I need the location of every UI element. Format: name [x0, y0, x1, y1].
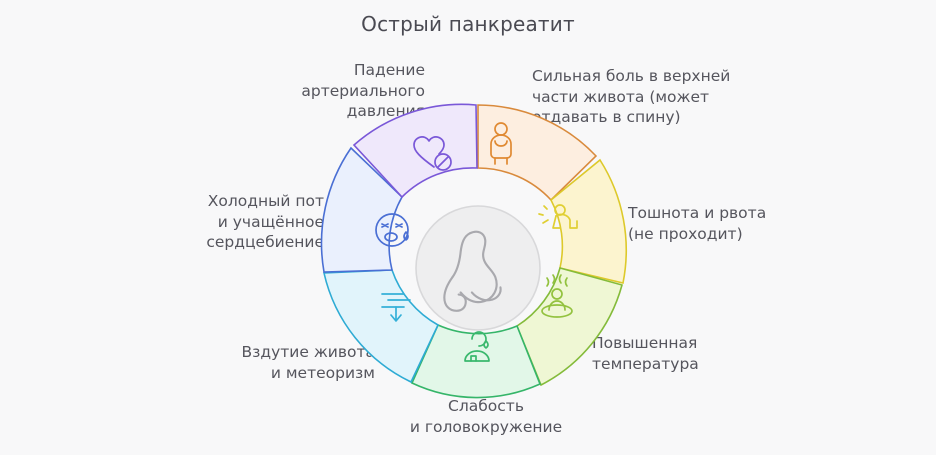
wheel-svg	[288, 78, 668, 418]
symptom-wheel	[288, 78, 668, 418]
center-hub[interactable]	[416, 206, 540, 330]
page-title: Острый панкреатит	[0, 12, 936, 36]
center-hub-circle	[416, 206, 540, 330]
infographic-canvas: Острый панкреатит Падение артериального …	[0, 0, 936, 455]
